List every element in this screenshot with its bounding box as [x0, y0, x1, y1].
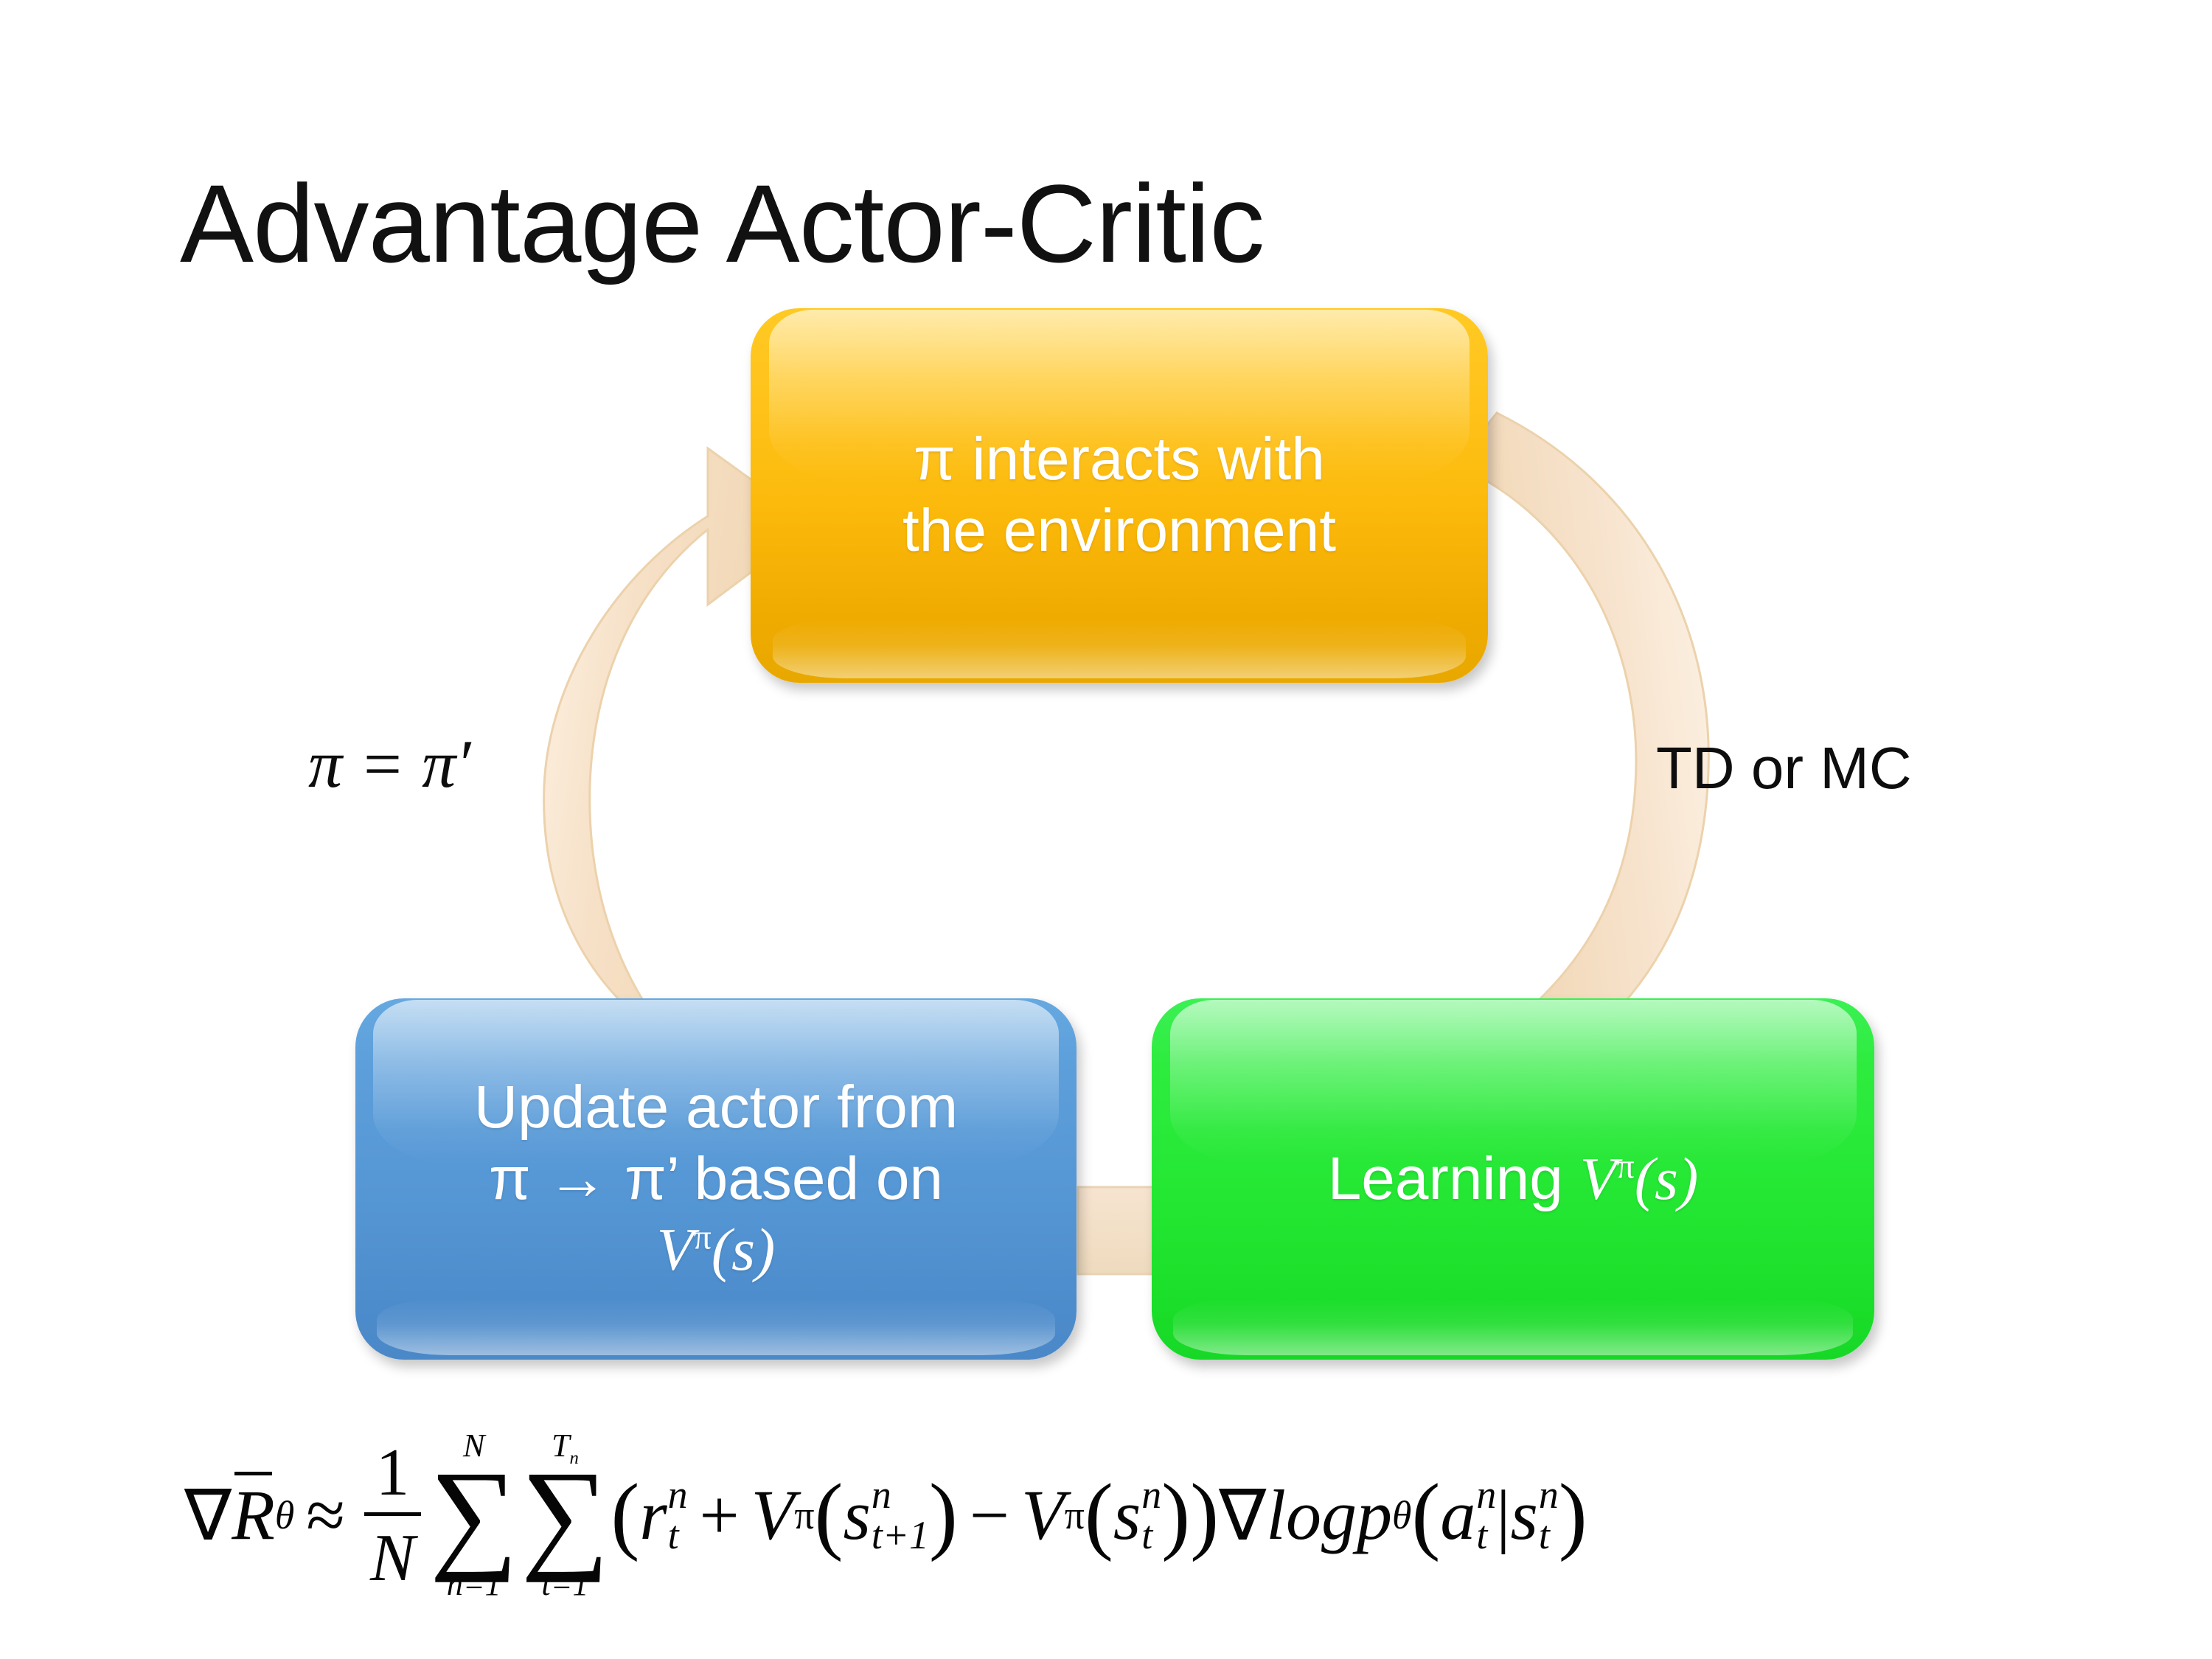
- box-bottom-highlight: [377, 1298, 1054, 1355]
- box-gloss-highlight: [1170, 1000, 1857, 1166]
- critic-v-argument: (s): [1635, 1145, 1699, 1212]
- formula-open-paren: (: [611, 1481, 639, 1550]
- formula-s1-subscript: t+1: [872, 1515, 929, 1556]
- formula-a-subscript: t: [1476, 1515, 1496, 1556]
- formula-r-indices: nt: [668, 1475, 688, 1556]
- formula-r-subscript: t: [668, 1515, 688, 1556]
- formula-sum2-sigma: ∑: [521, 1458, 610, 1572]
- edge-label-policy-assign: π = π′: [308, 730, 470, 798]
- critic-learning-box[interactable]: Learning Vπ(s): [1152, 998, 1874, 1360]
- formula-state-s2: s: [1113, 1474, 1141, 1556]
- formula-conditional-bar: |: [1496, 1474, 1510, 1556]
- connector-actor-critic: [1078, 1187, 1155, 1274]
- formula-state-s1: s: [843, 1474, 870, 1556]
- formula-a-superscript: n: [1476, 1475, 1496, 1515]
- actor-v-symbol: V: [657, 1216, 694, 1283]
- formula-r-superscript: n: [668, 1475, 688, 1515]
- formula-R-bar: R: [232, 1474, 275, 1556]
- formula-V-2: V: [1021, 1474, 1065, 1556]
- formula-V-1: V: [751, 1474, 795, 1556]
- formula-approx: ≈: [294, 1474, 357, 1556]
- formula-sum1-lower: n=1: [447, 1568, 501, 1601]
- formula-sum1-sigma: ∑: [430, 1458, 518, 1572]
- formula-frac-numerator: 1: [370, 1433, 416, 1512]
- box-bottom-highlight: [1173, 1298, 1852, 1355]
- formula-sum-over-n: N ∑ n=1: [430, 1430, 518, 1601]
- formula-s1-indices: nt+1: [872, 1475, 929, 1556]
- edge-label-td-or-mc: TD or MC: [1656, 739, 1912, 798]
- page-title: Advantage Actor-Critic: [180, 168, 1655, 279]
- critic-box-text: Learning: [1328, 1145, 1580, 1212]
- formula-sum2-lower: t=1: [541, 1568, 588, 1601]
- formula-nabla: ∇: [184, 1474, 232, 1557]
- gradient-formula: ∇Rθ ≈ 1 N N ∑ n=1 Tn ∑ t=1 (rnt + Vπ(snt…: [184, 1405, 2072, 1626]
- formula-plus: +: [688, 1474, 751, 1556]
- actor-update-box[interactable]: Update actor from π → π’ based on Vπ(s): [355, 998, 1077, 1360]
- formula-logp: logp: [1266, 1474, 1392, 1556]
- formula-s2-close: ): [1161, 1481, 1190, 1550]
- formula-a-indices: nt: [1476, 1475, 1496, 1556]
- critic-box-label: Learning Vπ(s): [1298, 1144, 1728, 1215]
- critic-v-superscript: π: [1617, 1147, 1635, 1186]
- formula-s2-indices: nt: [1141, 1475, 1161, 1556]
- formula-s1-superscript: n: [872, 1475, 929, 1515]
- critic-v-symbol: V: [1580, 1145, 1617, 1212]
- formula-state-s3: s: [1510, 1474, 1537, 1556]
- formula-arg-open: (: [1411, 1481, 1440, 1550]
- actor-v-argument: (s): [712, 1216, 776, 1283]
- actor-box-line-2: π → π’ based on: [474, 1144, 958, 1215]
- slide-canvas: Advantage Actor-Critic: [0, 0, 2212, 1659]
- formula-action-a: a: [1440, 1474, 1475, 1556]
- actor-box-label: Update actor from π → π’ based on Vπ(s): [445, 1072, 987, 1286]
- policy-interaction-box[interactable]: π interacts with the environment: [751, 308, 1488, 683]
- formula-frac-denominator: N: [364, 1516, 421, 1596]
- formula-sum-over-t: Tn ∑ t=1: [521, 1430, 610, 1601]
- actor-v-superscript: π: [694, 1219, 712, 1257]
- formula-reward-r: r: [639, 1474, 667, 1556]
- formula-s1-open: (: [814, 1481, 843, 1550]
- formula-s3-indices: nt: [1539, 1475, 1559, 1556]
- box-bottom-highlight: [773, 619, 1466, 678]
- policy-box-label: π interacts with the environment: [873, 424, 1366, 567]
- formula-s2-subscript: t: [1141, 1515, 1161, 1556]
- formula-close-paren: ): [1190, 1481, 1219, 1550]
- arc-policy-to-critic: [1455, 413, 1708, 1026]
- actor-box-line-1: Update actor from: [474, 1072, 958, 1144]
- formula-s2-superscript: n: [1141, 1475, 1161, 1515]
- actor-box-line-3: Vπ(s): [474, 1214, 958, 1286]
- formula-s3-superscript: n: [1539, 1475, 1559, 1515]
- formula-nabla-2: ∇: [1219, 1474, 1266, 1557]
- formula-s2-open: (: [1085, 1481, 1113, 1550]
- formula-arg-close: ): [1559, 1481, 1587, 1550]
- formula-s1-close: ): [929, 1481, 958, 1550]
- formula-one-over-N: 1 N: [364, 1433, 421, 1596]
- formula-s3-subscript: t: [1539, 1515, 1559, 1556]
- policy-box-line-2: the environment: [902, 495, 1336, 567]
- formula-minus: −: [958, 1474, 1021, 1556]
- policy-box-line-1: π interacts with: [902, 424, 1336, 495]
